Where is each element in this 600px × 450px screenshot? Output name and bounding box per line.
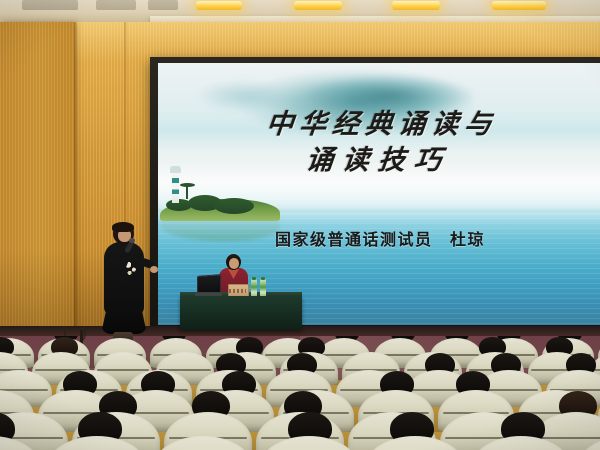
ceiling-light-2 — [294, 1, 342, 10]
slide-subtitle: 国家级普通话测试员 杜琼 — [158, 226, 600, 250]
island-shrub-2 — [214, 198, 254, 214]
ceiling-light-1 — [196, 1, 242, 10]
water-bottle-2 — [260, 279, 266, 297]
ceiling-tile-3 — [148, 0, 178, 10]
table-drape — [180, 296, 302, 330]
ceiling-light-4 — [492, 1, 546, 10]
island-shrub-3 — [166, 199, 192, 211]
water-bottle-2-cap — [261, 277, 265, 280]
ceiling-light-3 — [392, 1, 440, 10]
presenter-right-hand — [150, 266, 158, 273]
presenter-hair — [112, 222, 134, 232]
water-bottle-1 — [251, 279, 257, 297]
microphone-head — [129, 238, 135, 243]
audience-seating — [0, 336, 600, 450]
ceiling-tile-1 — [22, 0, 78, 10]
standing-presenter — [96, 222, 152, 348]
water-bottle-1-cap — [252, 277, 256, 280]
ceiling-tile-2 — [96, 0, 136, 10]
slide-title-line-1: 中华经典诵读与 — [265, 109, 499, 140]
palm-fronds — [180, 183, 195, 187]
host-face — [229, 258, 239, 269]
slide-title-line-2: 诵读技巧 — [158, 143, 600, 179]
palm-trunk — [186, 185, 188, 199]
lecture-hall-screenshot: 中华经典诵读与 诵读技巧 国家级普通话测试员 杜琼 — [0, 0, 600, 450]
name-card-text — [229, 289, 246, 293]
slide-title: 中华经典诵读与 诵读技巧 — [158, 107, 600, 179]
